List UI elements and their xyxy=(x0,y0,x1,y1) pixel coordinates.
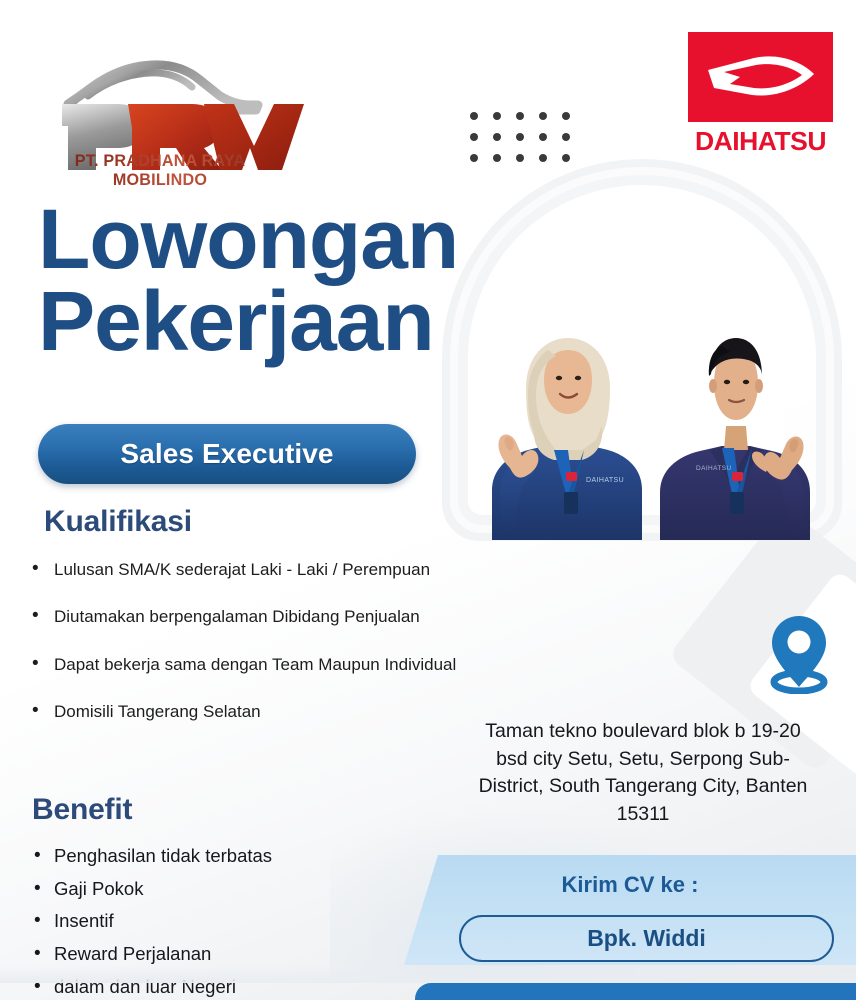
dot-icon xyxy=(470,133,478,141)
address-line: District, South Tangerang City, Banten xyxy=(440,773,846,801)
staff-photo: DAIHATSU DAIHATSU xyxy=(470,322,822,540)
dot-icon xyxy=(493,133,501,141)
headline-line-2: Pekerjaan xyxy=(38,280,458,362)
dot-icon xyxy=(516,133,524,141)
list-item: Gaji Pokok xyxy=(30,876,430,903)
list-item: Dapat bekerja sama dengan Team Maupun In… xyxy=(28,655,508,675)
address-line: 15311 xyxy=(440,801,846,829)
headline-line-1: Lowongan xyxy=(38,192,458,286)
dot-icon xyxy=(562,154,570,162)
role-title: Sales Executive xyxy=(120,438,333,470)
map-pin-icon xyxy=(764,612,834,694)
cv-contact-name: Bpk. Widdi xyxy=(587,925,706,952)
job-vacancy-poster: PT. PRADHANA RAYA MOBILINDO DAIHATSU Low… xyxy=(0,0,856,1000)
dot-icon xyxy=(516,112,524,120)
list-item: Reward Perjalanan xyxy=(30,941,430,968)
cv-contact-pill[interactable]: Bpk. Widdi xyxy=(459,915,834,962)
daihatsu-wordmark: DAIHATSU xyxy=(687,126,835,157)
dot-icon xyxy=(493,112,501,120)
company-legal-name: PT. PRADHANA RAYA MOBILINDO xyxy=(46,152,273,190)
dot-icon xyxy=(562,133,570,141)
dot-icon xyxy=(470,112,478,120)
bottom-gradient-strip xyxy=(0,965,856,983)
dot-icon xyxy=(562,112,570,120)
list-item: Insentif xyxy=(30,908,430,935)
address-line: Taman tekno boulevard blok b 19-20 xyxy=(440,718,846,746)
role-badge: Sales Executive xyxy=(38,424,416,484)
list-item: Domisili Tangerang Selatan xyxy=(28,702,508,722)
dot-icon xyxy=(516,154,524,162)
bottom-accent-bar xyxy=(415,983,856,1000)
dot-grid-decoration xyxy=(470,112,585,175)
svg-text:DAIHATSU: DAIHATSU xyxy=(586,477,624,484)
dot-icon xyxy=(470,154,478,162)
page-title: Lowongan Pekerjaan xyxy=(38,198,458,363)
daihatsu-badge xyxy=(688,32,833,122)
benefits-heading: Benefit xyxy=(32,793,132,827)
address-text: Taman tekno boulevard blok b 19-20 bsd c… xyxy=(440,718,846,829)
daihatsu-logo: DAIHATSU xyxy=(688,32,833,157)
list-item: Diutamakan berpengalaman Dibidang Penjua… xyxy=(28,607,508,627)
list-item: Penghasilan tidak terbatas xyxy=(30,843,430,870)
cv-panel-title: Kirim CV ke : xyxy=(404,872,856,898)
dot-icon xyxy=(539,133,547,141)
qualifications-heading: Kualifikasi xyxy=(44,505,192,539)
list-item: Lulusan SMA/K sederajat Laki - Laki / Pe… xyxy=(28,560,508,580)
svg-text:DAIHATSU: DAIHATSU xyxy=(696,465,732,472)
qualifications-list: Lulusan SMA/K sederajat Laki - Laki / Pe… xyxy=(28,560,508,750)
dot-icon xyxy=(493,154,501,162)
dot-icon xyxy=(539,112,547,120)
address-line: bsd city Setu, Setu, Serpong Sub- xyxy=(440,746,846,774)
dot-icon xyxy=(539,154,547,162)
